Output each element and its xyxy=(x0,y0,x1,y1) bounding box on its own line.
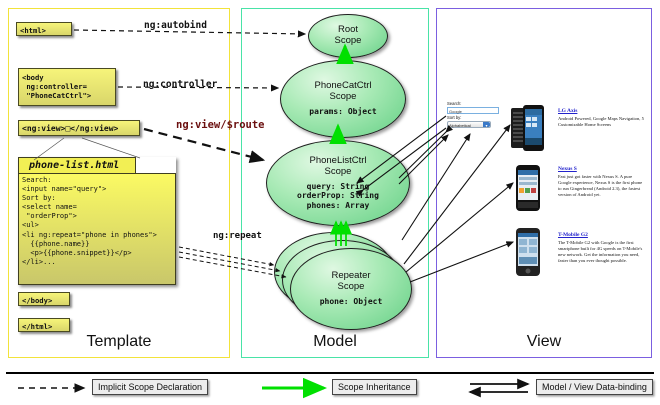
phone-info: Nexus S Fast just got faster with Nexus … xyxy=(558,166,646,198)
phone-description: Android Powered, Google Maps Navigation,… xyxy=(558,116,646,128)
phone-list-html-code: Search: <input name="query"> Sort by: <s… xyxy=(18,173,176,285)
sort-select[interactable]: Alphabetical ▾ xyxy=(447,121,491,129)
html-close-tag: </html> xyxy=(18,318,70,332)
phone-description: The T-Mobile G2 with Google is the first… xyxy=(558,240,646,264)
phone-description: Fast just got faster with Nexus S. A pur… xyxy=(558,174,646,198)
phonecatctrl-scope-ellipse: PhoneCatCtrl Scope params: Object xyxy=(280,60,406,138)
phone-info: LG Axis Android Powered, Google Maps Nav… xyxy=(558,108,646,128)
view-search-form: Search: Google Sort by: Alphabetical ▾ xyxy=(447,101,507,128)
phonelistctrl-scope-ellipse: PhoneListCtrl Scope query: String orderP… xyxy=(266,140,410,226)
panel-model-label: Model xyxy=(242,333,428,351)
panel-view-label: View xyxy=(437,333,651,351)
ng-repeat-label: ng:repeat xyxy=(213,231,262,241)
phonelistctrl-scope-title: PhoneListCtrl Scope xyxy=(309,156,366,178)
chevron-down-icon: ▾ xyxy=(483,122,490,128)
angularjs-architecture-diagram: Template Model View <html> <body ng:cont… xyxy=(0,0,660,405)
ng-autobind-label: ng:autobind xyxy=(144,20,207,31)
sort-label: Sort by: xyxy=(447,115,507,121)
legend-model-view-data-binding: Model / View Data-binding xyxy=(536,379,653,395)
phone-list-html-note: phone-list.html Search: <input name="que… xyxy=(18,157,176,285)
phone-name-link[interactable]: T-Mobile G2 xyxy=(558,232,646,238)
legend-scope-inheritance: Scope Inheritance xyxy=(332,379,417,395)
phone-list-html-title: phone-list.html xyxy=(18,157,136,173)
phonecatctrl-scope-props: params: Object xyxy=(309,107,376,117)
phone-candybar-icon xyxy=(514,164,542,212)
ngview-tag: <ng:view>□</ng:view> xyxy=(18,120,140,136)
legend-divider xyxy=(6,372,654,374)
body-close-tag: </body> xyxy=(18,292,70,306)
repeater-scope-title: Repeater Scope xyxy=(331,271,370,293)
panel-template-label: Template xyxy=(9,333,229,351)
phone-name-link[interactable]: Nexus S xyxy=(558,166,646,172)
root-scope-ellipse: Root Scope xyxy=(308,14,388,58)
ng-controller-label: ng:controller xyxy=(143,79,217,90)
ng-view-route-label: ng:view/$route xyxy=(176,119,265,131)
phone-info: T-Mobile G2 The T-Mobile G2 with Google … xyxy=(558,232,646,264)
phone-name-link[interactable]: LG Axis xyxy=(558,108,646,114)
phonelistctrl-scope-props: query: String orderProp: String phones: … xyxy=(297,182,379,211)
root-scope-title: Root Scope xyxy=(335,25,362,47)
repeater-scope-props: phone: Object xyxy=(320,297,383,307)
phone-touchscreen-icon xyxy=(514,227,542,277)
phone-slider-icon xyxy=(510,104,546,152)
sort-select-value: Alphabetical xyxy=(449,123,471,128)
repeater-scope-ellipse: Repeater Scope phone: Object xyxy=(290,248,412,330)
legend-implicit-scope-declaration: Implicit Scope Declaration xyxy=(92,379,208,395)
body-open-tag: <body ng:controller= "PhoneCatCtrl"> xyxy=(18,68,116,106)
phonecatctrl-scope-title: PhoneCatCtrl Scope xyxy=(314,81,371,103)
search-input[interactable]: Google xyxy=(447,107,499,114)
html-open-tag: <html> xyxy=(16,22,72,36)
